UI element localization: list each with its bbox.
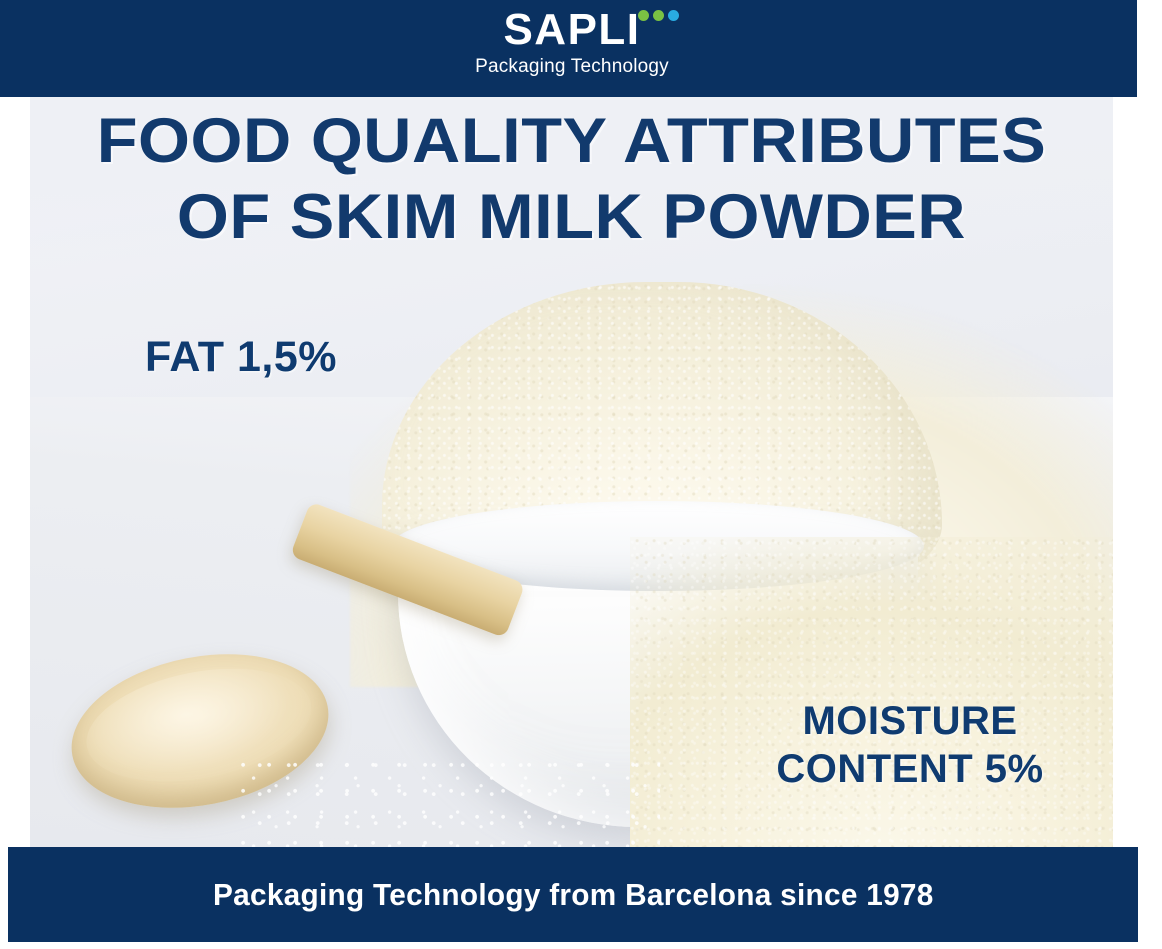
logo-dot-blue-icon — [668, 10, 679, 21]
logo-dot-green-2-icon — [653, 10, 664, 21]
photo-scattered-powder-specks — [240, 757, 660, 847]
sapli-logo[interactable]: SAPLI Packaging Technology — [452, 6, 692, 79]
footer-tagline: Packaging Technology from Barcelona sinc… — [213, 877, 934, 913]
page-title-line-2: OF SKIM MILK POWDER — [30, 185, 1113, 249]
callout-moisture-line-1: MOISTURE — [750, 697, 1070, 745]
logo-dot-green-1-icon — [638, 10, 649, 21]
logo-tagline: Packaging Technology — [452, 55, 692, 79]
logo-dots-group — [638, 10, 679, 21]
page-title: FOOD QUALITY ATTRIBUTES OF SKIM MILK POW… — [30, 109, 1113, 249]
callout-moisture-line-2: CONTENT 5% — [750, 745, 1070, 793]
photo-powder-pile-right — [630, 537, 1113, 847]
footer-band: Packaging Technology from Barcelona sinc… — [8, 847, 1138, 942]
callout-fat: FAT 1,5% — [145, 333, 337, 381]
logo-wordmark: SAPLI — [503, 6, 640, 54]
page-title-line-1: FOOD QUALITY ATTRIBUTES — [30, 109, 1113, 173]
logo-wordmark-row: SAPLI — [503, 6, 640, 54]
header-band: SAPLI Packaging Technology — [0, 0, 1137, 97]
poster-canvas: SAPLI Packaging Technology — [0, 0, 1162, 949]
content-area: FOOD QUALITY ATTRIBUTES OF SKIM MILK POW… — [30, 97, 1113, 847]
callout-moisture: MOISTURE CONTENT 5% — [750, 697, 1070, 793]
